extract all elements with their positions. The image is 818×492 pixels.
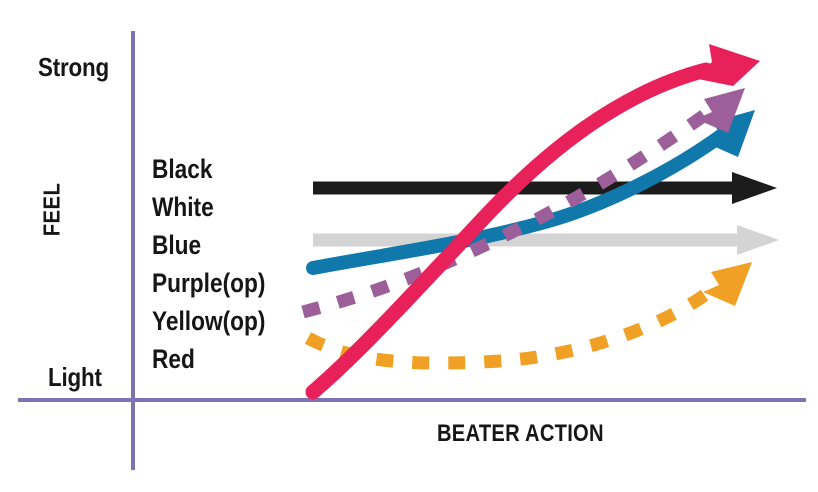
- legend-item-yellow: Yellow(op): [152, 302, 265, 340]
- chart-figure: Strong Light FEEL BEATER ACTION Black Wh…: [0, 0, 818, 492]
- y-axis-top-label: Strong: [38, 52, 109, 83]
- x-axis-title: BEATER ACTION: [437, 420, 604, 448]
- series-black: [313, 172, 777, 204]
- legend-item-purple: Purple(op): [152, 264, 265, 302]
- y-axis-bottom-label: Light: [48, 362, 102, 393]
- series-yellow: [308, 262, 752, 363]
- series-legend: Black White Blue Purple(op) Yellow(op) R…: [152, 150, 287, 378]
- legend-item-black: Black: [152, 150, 265, 188]
- series-purple: [303, 88, 745, 312]
- legend-item-red: Red: [152, 340, 265, 378]
- legend-item-blue: Blue: [152, 226, 265, 264]
- chart-canvas: [0, 0, 818, 492]
- legend-item-white: White: [152, 188, 265, 226]
- y-axis-title: FEEL: [39, 157, 66, 263]
